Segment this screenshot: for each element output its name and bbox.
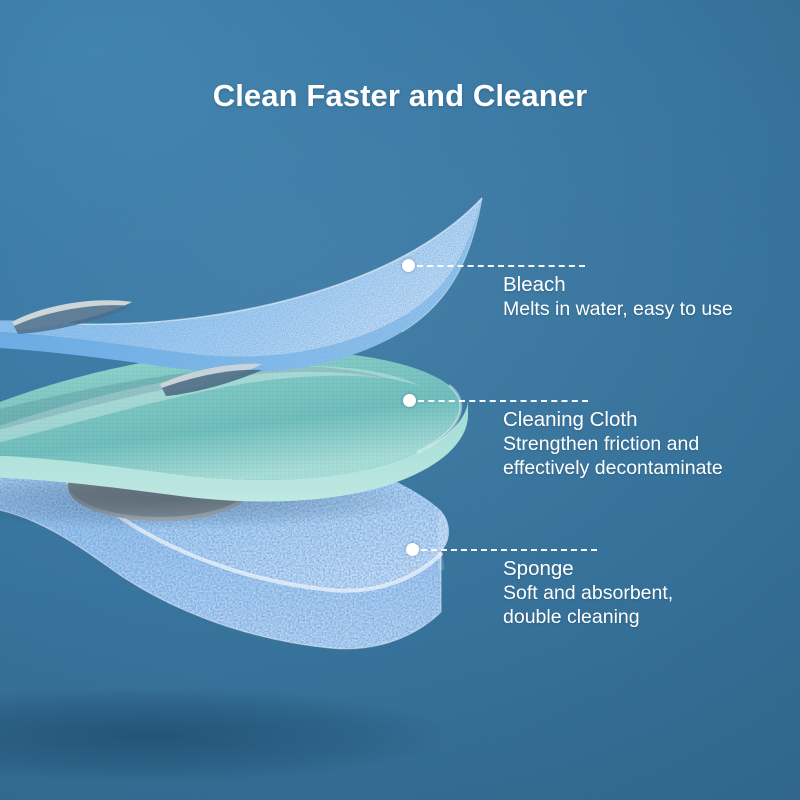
- callout-desc-cleaning-cloth: Strengthen friction and effectively deco…: [503, 432, 723, 480]
- bleach-layer: [0, 198, 482, 396]
- callout-dot-sponge[interactable]: [406, 543, 419, 556]
- callout-title-bleach: Bleach: [503, 272, 733, 297]
- callout-desc-line: Melts in water, easy to use: [503, 297, 733, 321]
- product-infographic: Clean Faster and Cleaner Bleach Melts in…: [0, 0, 800, 800]
- callout-title-sponge: Sponge: [503, 556, 673, 581]
- callout-desc-line: effectively decontaminate: [503, 456, 723, 480]
- callout-dot-bleach[interactable]: [402, 259, 415, 272]
- callout-text-cleaning-cloth: Cleaning Cloth Strengthen friction and e…: [503, 407, 723, 480]
- callout-text-sponge: Sponge Soft and absorbent, double cleani…: [503, 556, 673, 629]
- callout-desc-line: Soft and absorbent,: [503, 581, 673, 605]
- product-illustration: [0, 0, 800, 800]
- callout-desc-bleach: Melts in water, easy to use: [503, 297, 733, 321]
- callout-line-cleaning-cloth: [418, 400, 588, 402]
- callout-text-bleach: Bleach Melts in water, easy to use: [503, 272, 733, 321]
- callout-desc-sponge: Soft and absorbent, double cleaning: [503, 581, 673, 629]
- callout-desc-line: Strengthen friction and: [503, 432, 723, 456]
- callout-line-sponge: [421, 549, 597, 551]
- callout-title-cleaning-cloth: Cleaning Cloth: [503, 407, 723, 432]
- callout-desc-line: double cleaning: [503, 605, 673, 629]
- page-title: Clean Faster and Cleaner: [0, 78, 800, 114]
- callout-dot-cleaning-cloth[interactable]: [403, 394, 416, 407]
- callout-line-bleach: [417, 265, 585, 267]
